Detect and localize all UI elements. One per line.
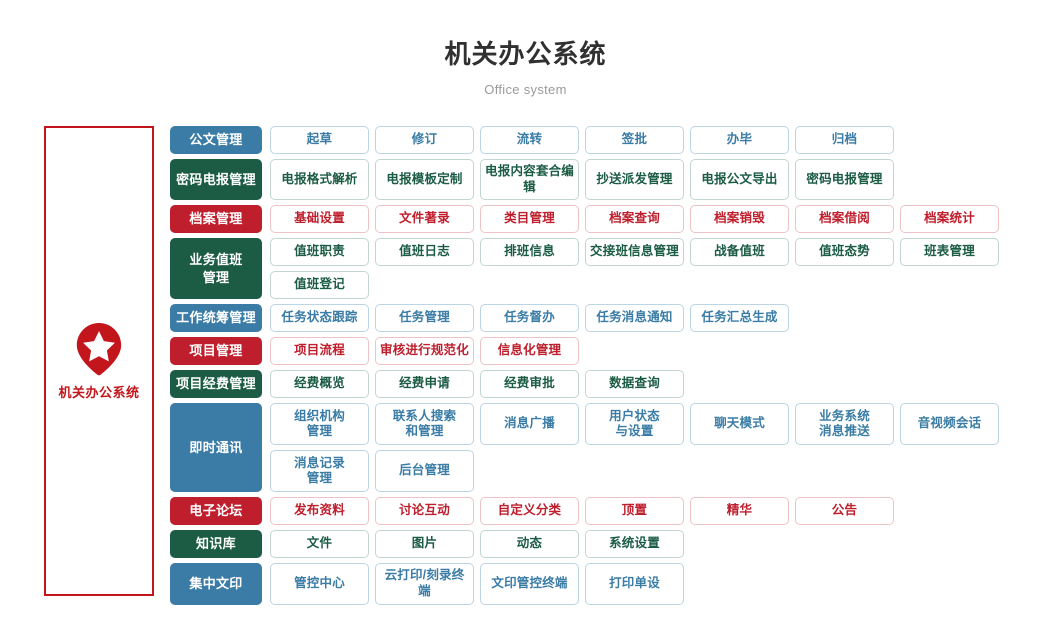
category-row: 电子论坛发布资料讨论互动自定义分类顶置精华公告: [170, 497, 1051, 525]
module-button-4-0-2[interactable]: 任务督办: [480, 304, 579, 332]
module-button-7-0-3[interactable]: 用户状态与设置: [585, 403, 684, 445]
page-header: 机关办公系统 Office system: [0, 0, 1051, 97]
category-label-3[interactable]: 业务值班管理: [170, 238, 262, 299]
module-button-1-0-1[interactable]: 电报模板定制: [375, 159, 474, 200]
module-button-5-0-1[interactable]: 审核进行规范化: [375, 337, 474, 365]
page-title: 机关办公系统: [0, 38, 1051, 71]
category-items: 值班职责值班日志排班信息交接班信息管理战备值班值班态势班表管理值班登记: [270, 238, 1051, 299]
module-button-4-0-4[interactable]: 任务汇总生成: [690, 304, 789, 332]
module-button-9-0-1[interactable]: 图片: [375, 530, 474, 558]
category-label-10[interactable]: 集中文印: [170, 563, 262, 604]
module-button-8-0-0[interactable]: 发布资料: [270, 497, 369, 525]
category-items: 文件图片动态系统设置: [270, 530, 1051, 558]
module-button-0-0-2[interactable]: 流转: [480, 126, 579, 154]
module-button-8-0-3[interactable]: 顶置: [585, 497, 684, 525]
module-button-7-0-6[interactable]: 音视频会话: [900, 403, 999, 445]
content-area: 机关办公系统 公文管理起草修订流转签批办毕归档密码电报管理电报格式解析电报模板定…: [0, 126, 1051, 610]
category-items: 起草修订流转签批办毕归档: [270, 126, 1051, 154]
module-button-10-0-2[interactable]: 文印管控终端: [480, 563, 579, 604]
module-button-4-0-0[interactable]: 任务状态跟踪: [270, 304, 369, 332]
module-button-2-0-5[interactable]: 档案借阅: [795, 205, 894, 233]
module-button-8-0-5[interactable]: 公告: [795, 497, 894, 525]
module-button-1-0-4[interactable]: 电报公文导出: [690, 159, 789, 200]
module-button-10-0-0[interactable]: 管控中心: [270, 563, 369, 604]
category-items: 管控中心云打印/刻录终端文印管控终端打印单设: [270, 563, 1051, 604]
category-label-1[interactable]: 密码电报管理: [170, 159, 262, 200]
module-button-7-0-0[interactable]: 组织机构管理: [270, 403, 369, 445]
category-row: 即时通讯组织机构管理联系人搜索和管理消息广播用户状态与设置聊天模式业务系统消息推…: [170, 403, 1051, 492]
category-items: 电报格式解析电报模板定制电报内容套合编辑抄送派发管理电报公文导出密码电报管理: [270, 159, 1051, 200]
items-line: 起草修订流转签批办毕归档: [270, 126, 1051, 154]
category-label-9[interactable]: 知识库: [170, 530, 262, 558]
module-button-4-0-3[interactable]: 任务消息通知: [585, 304, 684, 332]
module-button-3-1-0[interactable]: 值班登记: [270, 271, 369, 299]
module-button-5-0-0[interactable]: 项目流程: [270, 337, 369, 365]
module-button-3-0-0[interactable]: 值班职责: [270, 238, 369, 266]
module-button-3-0-3[interactable]: 交接班信息管理: [585, 238, 684, 266]
category-row: 公文管理起草修订流转签批办毕归档: [170, 126, 1051, 154]
module-button-1-0-0[interactable]: 电报格式解析: [270, 159, 369, 200]
module-button-7-1-0[interactable]: 消息记录管理: [270, 450, 369, 492]
category-label-2[interactable]: 档案管理: [170, 205, 262, 233]
category-row: 项目经费管理经费概览经费申请经费审批数据查询: [170, 370, 1051, 398]
module-button-3-0-4[interactable]: 战备值班: [690, 238, 789, 266]
module-button-9-0-2[interactable]: 动态: [480, 530, 579, 558]
category-row: 工作统筹管理任务状态跟踪任务管理任务督办任务消息通知任务汇总生成: [170, 304, 1051, 332]
items-line: 电报格式解析电报模板定制电报内容套合编辑抄送派发管理电报公文导出密码电报管理: [270, 159, 1051, 200]
module-button-3-0-1[interactable]: 值班日志: [375, 238, 474, 266]
module-button-3-0-2[interactable]: 排班信息: [480, 238, 579, 266]
page-subtitle: Office system: [0, 82, 1051, 97]
items-line: 发布资料讨论互动自定义分类顶置精华公告: [270, 497, 1051, 525]
category-label-8[interactable]: 电子论坛: [170, 497, 262, 525]
module-button-9-0-0[interactable]: 文件: [270, 530, 369, 558]
module-button-0-0-3[interactable]: 签批: [585, 126, 684, 154]
module-button-2-0-0[interactable]: 基础设置: [270, 205, 369, 233]
module-button-0-0-0[interactable]: 起草: [270, 126, 369, 154]
category-row: 档案管理基础设置文件著录类目管理档案查询档案销毁档案借阅档案统计: [170, 205, 1051, 233]
module-button-6-0-3[interactable]: 数据查询: [585, 370, 684, 398]
items-line: 管控中心云打印/刻录终端文印管控终端打印单设: [270, 563, 1051, 604]
module-button-10-0-1[interactable]: 云打印/刻录终端: [375, 563, 474, 604]
items-line: 组织机构管理联系人搜索和管理消息广播用户状态与设置聊天模式业务系统消息推送音视频…: [270, 403, 1051, 445]
module-button-8-0-2[interactable]: 自定义分类: [480, 497, 579, 525]
items-line: 消息记录管理后台管理: [270, 450, 1051, 492]
module-button-6-0-1[interactable]: 经费申请: [375, 370, 474, 398]
category-label-7[interactable]: 即时通讯: [170, 403, 262, 492]
module-button-7-0-2[interactable]: 消息广播: [480, 403, 579, 445]
brand-panel: 机关办公系统: [44, 126, 154, 596]
module-button-7-0-5[interactable]: 业务系统消息推送: [795, 403, 894, 445]
module-button-2-0-2[interactable]: 类目管理: [480, 205, 579, 233]
category-items: 经费概览经费申请经费审批数据查询: [270, 370, 1051, 398]
items-line: 文件图片动态系统设置: [270, 530, 1051, 558]
category-label-6[interactable]: 项目经费管理: [170, 370, 262, 398]
module-button-2-0-1[interactable]: 文件著录: [375, 205, 474, 233]
items-line: 任务状态跟踪任务管理任务督办任务消息通知任务汇总生成: [270, 304, 1051, 332]
map-pin-star-icon: [75, 322, 123, 376]
category-items: 任务状态跟踪任务管理任务督办任务消息通知任务汇总生成: [270, 304, 1051, 332]
module-button-9-0-3[interactable]: 系统设置: [585, 530, 684, 558]
module-button-1-0-3[interactable]: 抄送派发管理: [585, 159, 684, 200]
category-items: 项目流程审核进行规范化信息化管理: [270, 337, 1051, 365]
category-row: 项目管理项目流程审核进行规范化信息化管理: [170, 337, 1051, 365]
category-label-5[interactable]: 项目管理: [170, 337, 262, 365]
category-label-4[interactable]: 工作统筹管理: [170, 304, 262, 332]
module-button-0-0-5[interactable]: 归档: [795, 126, 894, 154]
module-button-8-0-1[interactable]: 讨论互动: [375, 497, 474, 525]
module-button-7-0-4[interactable]: 聊天模式: [690, 403, 789, 445]
category-row: 知识库文件图片动态系统设置: [170, 530, 1051, 558]
module-button-1-0-5[interactable]: 密码电报管理: [795, 159, 894, 200]
items-line: 值班职责值班日志排班信息交接班信息管理战备值班值班态势班表管理: [270, 238, 1051, 266]
module-button-4-0-1[interactable]: 任务管理: [375, 304, 474, 332]
module-button-2-0-6[interactable]: 档案统计: [900, 205, 999, 233]
module-matrix: 公文管理起草修订流转签批办毕归档密码电报管理电报格式解析电报模板定制电报内容套合…: [170, 126, 1051, 610]
module-button-5-0-2[interactable]: 信息化管理: [480, 337, 579, 365]
items-line: 经费概览经费申请经费审批数据查询: [270, 370, 1051, 398]
module-button-7-1-1[interactable]: 后台管理: [375, 450, 474, 492]
category-items: 组织机构管理联系人搜索和管理消息广播用户状态与设置聊天模式业务系统消息推送音视频…: [270, 403, 1051, 492]
module-button-10-0-3[interactable]: 打印单设: [585, 563, 684, 604]
module-button-7-0-1[interactable]: 联系人搜索和管理: [375, 403, 474, 445]
items-line: 项目流程审核进行规范化信息化管理: [270, 337, 1051, 365]
module-button-6-0-2[interactable]: 经费审批: [480, 370, 579, 398]
module-button-3-0-6[interactable]: 班表管理: [900, 238, 999, 266]
module-button-2-0-3[interactable]: 档案查询: [585, 205, 684, 233]
category-label-0[interactable]: 公文管理: [170, 126, 262, 154]
module-button-6-0-0[interactable]: 经费概览: [270, 370, 369, 398]
category-items: 基础设置文件著录类目管理档案查询档案销毁档案借阅档案统计: [270, 205, 1051, 233]
layout-row: 机关办公系统 公文管理起草修订流转签批办毕归档密码电报管理电报格式解析电报模板定…: [0, 126, 1051, 610]
module-button-3-0-5[interactable]: 值班态势: [795, 238, 894, 266]
module-button-0-0-4[interactable]: 办毕: [690, 126, 789, 154]
category-items: 发布资料讨论互动自定义分类顶置精华公告: [270, 497, 1051, 525]
module-button-0-0-1[interactable]: 修订: [375, 126, 474, 154]
items-line: 基础设置文件著录类目管理档案查询档案销毁档案借阅档案统计: [270, 205, 1051, 233]
category-row: 集中文印管控中心云打印/刻录终端文印管控终端打印单设: [170, 563, 1051, 604]
items-line: 值班登记: [270, 271, 1051, 299]
category-row: 密码电报管理电报格式解析电报模板定制电报内容套合编辑抄送派发管理电报公文导出密码…: [170, 159, 1051, 200]
category-row: 业务值班管理值班职责值班日志排班信息交接班信息管理战备值班值班态势班表管理值班登…: [170, 238, 1051, 299]
module-button-2-0-4[interactable]: 档案销毁: [690, 205, 789, 233]
brand-name: 机关办公系统: [58, 382, 139, 401]
module-button-8-0-4[interactable]: 精华: [690, 497, 789, 525]
module-button-1-0-2[interactable]: 电报内容套合编辑: [480, 159, 579, 200]
